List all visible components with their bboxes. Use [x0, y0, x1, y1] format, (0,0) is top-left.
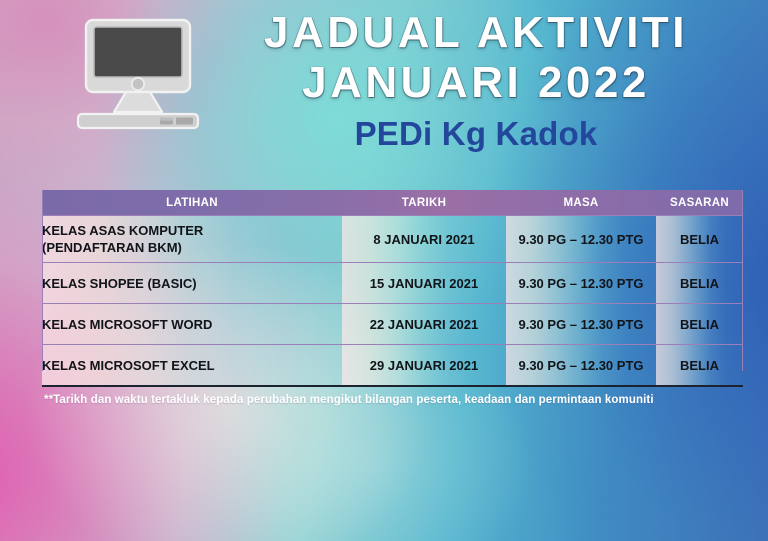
- cell-tarikh: 15 JANUARI 2021: [342, 263, 506, 304]
- poster-title-line-2: JANUARI 2022: [214, 58, 738, 108]
- column-header-tarikh: TARIKH: [342, 190, 506, 216]
- table-header-row: LATIHAN TARIKH MASA SASARAN: [42, 190, 743, 216]
- cell-latihan-line-2: (PENDAFTARAN BKM): [42, 239, 342, 256]
- cell-latihan: KELAS MICROSOFT EXCEL: [42, 345, 342, 387]
- poster-header: JADUAL AKTIVITI JANUARI 2022 PEDi Kg Kad…: [0, 0, 768, 178]
- column-header-masa: MASA: [506, 190, 656, 216]
- table-right-rule: [742, 190, 743, 371]
- poster-title-line-1: JADUAL AKTIVITI: [214, 8, 738, 58]
- column-header-sasaran: SASARAN: [656, 190, 743, 216]
- cell-sasaran: BELIA: [656, 345, 743, 387]
- cell-masa: 9.30 PG – 12.30 PTG: [506, 345, 656, 387]
- poster-subtitle: PEDi Kg Kadok: [214, 114, 738, 154]
- table-row: KELAS ASAS KOMPUTER (PENDAFTARAN BKM) 8 …: [42, 216, 743, 263]
- desktop-computer-icon: [64, 14, 212, 130]
- cell-latihan: KELAS MICROSOFT WORD: [42, 304, 342, 345]
- cell-masa: 9.30 PG – 12.30 PTG: [506, 263, 656, 304]
- table-body: KELAS ASAS KOMPUTER (PENDAFTARAN BKM) 8 …: [42, 216, 743, 387]
- cell-masa: 9.30 PG – 12.30 PTG: [506, 304, 656, 345]
- column-header-latihan: LATIHAN: [42, 190, 342, 216]
- cell-sasaran: BELIA: [656, 263, 743, 304]
- cell-latihan-line-1: KELAS ASAS KOMPUTER: [42, 222, 342, 239]
- schedule-table-container: LATIHAN TARIKH MASA SASARAN KELAS ASAS K…: [42, 190, 743, 387]
- cell-sasaran: BELIA: [656, 304, 743, 345]
- title-block: JADUAL AKTIVITI JANUARI 2022 PEDi Kg Kad…: [214, 8, 738, 154]
- cell-tarikh: 29 JANUARI 2021: [342, 345, 506, 387]
- table-row: KELAS SHOPEE (BASIC) 15 JANUARI 2021 9.3…: [42, 263, 743, 304]
- table-head: LATIHAN TARIKH MASA SASARAN: [42, 190, 743, 216]
- cell-tarikh: 22 JANUARI 2021: [342, 304, 506, 345]
- poster-canvas: JADUAL AKTIVITI JANUARI 2022 PEDi Kg Kad…: [0, 0, 768, 541]
- table-row: KELAS MICROSOFT EXCEL 29 JANUARI 2021 9.…: [42, 345, 743, 387]
- cell-tarikh: 8 JANUARI 2021: [342, 216, 506, 263]
- cell-sasaran: BELIA: [656, 216, 743, 263]
- footnote-disclaimer: **Tarikh dan waktu tertakluk kepada peru…: [44, 393, 734, 408]
- table-left-rule: [42, 190, 43, 371]
- cell-latihan: KELAS ASAS KOMPUTER (PENDAFTARAN BKM): [42, 216, 342, 263]
- cell-latihan: KELAS SHOPEE (BASIC): [42, 263, 342, 304]
- table-row: KELAS MICROSOFT WORD 22 JANUARI 2021 9.3…: [42, 304, 743, 345]
- schedule-table: LATIHAN TARIKH MASA SASARAN KELAS ASAS K…: [42, 190, 743, 387]
- cell-masa: 9.30 PG – 12.30 PTG: [506, 216, 656, 263]
